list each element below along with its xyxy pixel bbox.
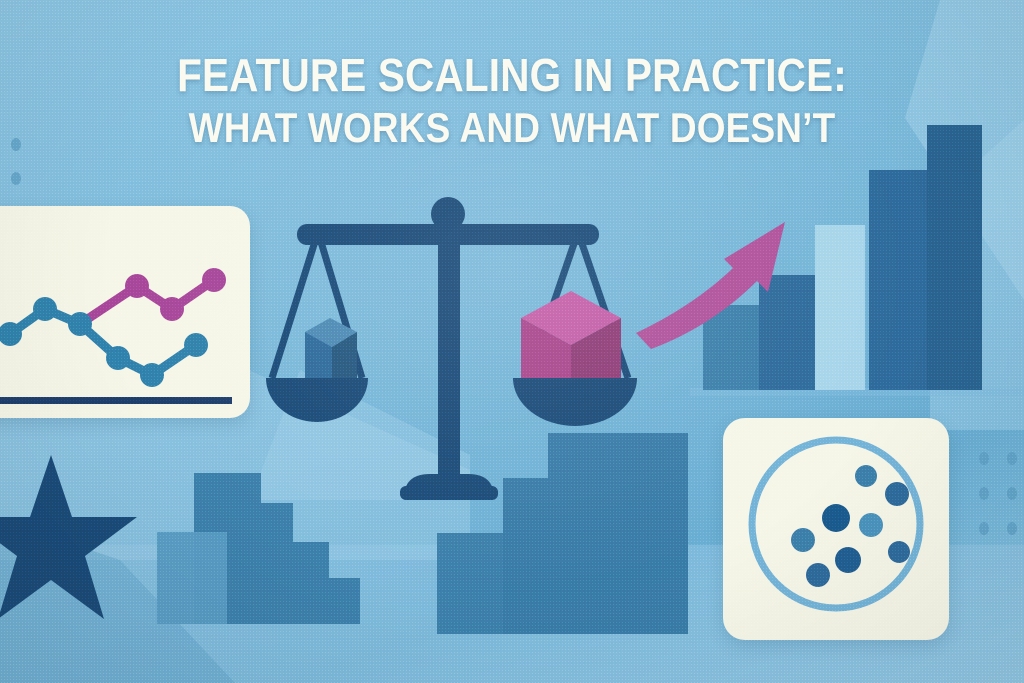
scale-knob: [431, 197, 465, 231]
scatter-plot-svg: [723, 418, 949, 640]
scatter-dot: [888, 541, 910, 563]
data-point: [202, 268, 226, 292]
line-chart-svg: [0, 206, 250, 418]
scatter-dot: [791, 528, 815, 552]
scale-foot: [400, 486, 498, 500]
data-point: [106, 346, 130, 370]
scatter-dot: [859, 513, 883, 537]
scatter-plot-card: [723, 418, 949, 640]
scatter-dot: [806, 563, 830, 587]
scale-pan-right: [513, 378, 637, 426]
scatter-dot: [835, 547, 861, 573]
poster-canvas: FEATURE SCALING IN PRACTICE: WHAT WORKS …: [0, 0, 1024, 683]
chart-axis: [0, 397, 232, 404]
small-blue-cube: [305, 318, 357, 385]
line-chart-card: [0, 206, 250, 418]
data-point: [68, 312, 92, 336]
scatter-dot: [885, 482, 909, 506]
scatter-dot: [855, 465, 877, 487]
data-point: [125, 274, 149, 298]
data-point: [140, 363, 164, 387]
data-point: [33, 297, 57, 321]
data-point: [160, 297, 184, 321]
scatter-dot: [822, 504, 850, 532]
scale-column: [438, 228, 460, 480]
scale-pan-left: [266, 378, 368, 422]
data-point: [184, 333, 208, 357]
